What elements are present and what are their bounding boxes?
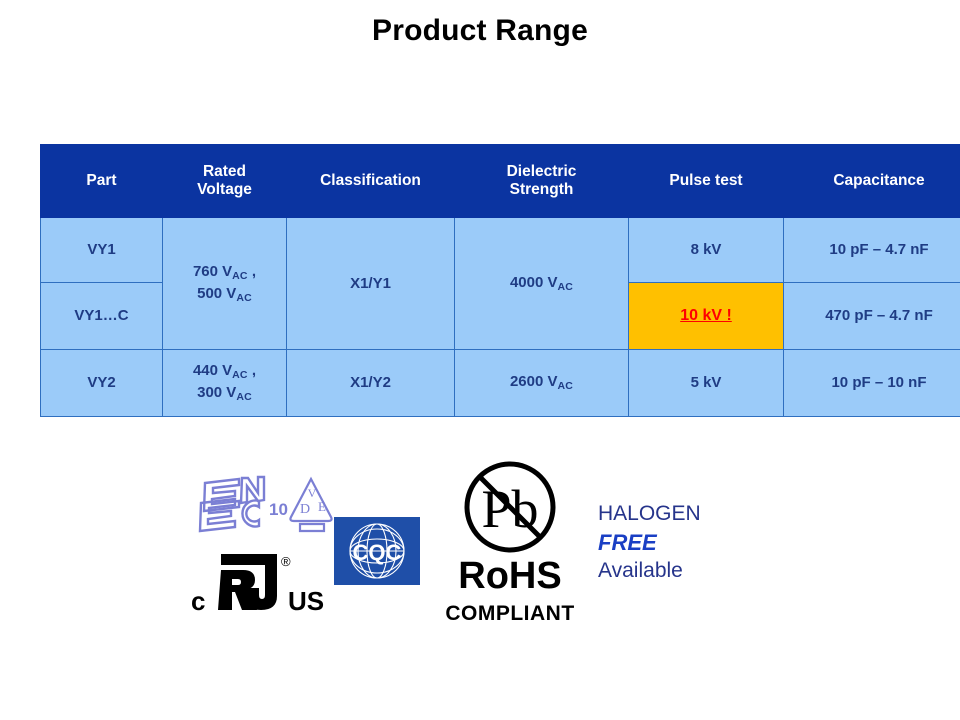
table-body: VY1 760 VAC , 500 VAC X1/Y1 4000 VAC 8 k… [41, 218, 960, 417]
vde-letter-e: E [318, 499, 326, 514]
product-range-table: Part Rated Voltage Classification Dielec… [40, 144, 960, 417]
column-header-pulse-test: Pulse test [629, 145, 784, 218]
subscript-ac: AC [232, 369, 248, 381]
highlight-value: 10 kV ! [680, 307, 732, 324]
cell-pulse-test-vy1: 8 kV [629, 218, 784, 283]
halogen-line-3: Available [598, 557, 798, 585]
cell-classification-vy1: X1/Y1 [287, 218, 455, 350]
subscript-ac: AC [557, 380, 573, 392]
enec-number: 10 [269, 500, 288, 519]
column-header-rated-voltage: Rated Voltage [163, 145, 287, 218]
cqc-logo: CQC [334, 517, 420, 585]
cell-part-vy1c: VY1…C [41, 283, 163, 350]
subscript-ac: AC [557, 281, 573, 293]
enec-vde-logo-group: 10 V D E [193, 473, 338, 539]
cell-capacitance-vy1c: 470 pF – 4.7 nF [784, 283, 960, 350]
cell-pulse-test-vy1c-highlighted: 10 kV ! [629, 283, 784, 350]
ul-recognized-logo: c US ® [185, 548, 335, 620]
cell-dielectric-vy2: 2600 VAC [455, 350, 629, 417]
ul-right-letters: US [288, 586, 324, 616]
column-header-part: Part [41, 145, 163, 218]
cell-dielectric-vy1: 4000 VAC [455, 218, 629, 350]
rohs-subtitle: COMPLIANT [445, 602, 574, 625]
cell-rated-voltage-vy1: 760 VAC , 500 VAC [163, 218, 287, 350]
cell-capacitance-vy1: 10 pF – 4.7 nF [784, 218, 960, 283]
cell-capacitance-vy2: 10 pF – 10 nF [784, 350, 960, 417]
vde-letter-d: D [300, 502, 310, 517]
column-header-classification: Classification [287, 145, 455, 218]
subscript-ac: AC [236, 291, 252, 303]
subscript-ac: AC [232, 270, 248, 282]
subscript-ac: AC [236, 391, 252, 403]
table-header: Part Rated Voltage Classification Dielec… [41, 145, 960, 218]
vde-letter-v: V [308, 486, 317, 500]
certification-logo-strip: 10 V D E c US ® [0, 455, 960, 655]
table-row: VY2 440 VAC , 300 VAC X1/Y2 2600 VAC 5 k… [41, 350, 960, 417]
rohs-title: RoHS [458, 555, 561, 597]
ul-left-letter: c [191, 586, 205, 616]
halogen-line-2: FREE [598, 528, 798, 557]
cell-classification-vy2: X1/Y2 [287, 350, 455, 417]
table-header-row: Part Rated Voltage Classification Dielec… [41, 145, 960, 218]
cqc-text: CQC [353, 540, 402, 565]
table-row: VY1 760 VAC , 500 VAC X1/Y1 4000 VAC 8 k… [41, 218, 960, 283]
column-header-dielectric-strength: Dielectric Strength [455, 145, 629, 218]
cell-rated-voltage-vy2: 440 VAC , 300 VAC [163, 350, 287, 417]
page-title: Product Range [0, 14, 960, 48]
halogen-free-note: HALOGEN FREE Available [598, 500, 798, 584]
registered-icon: ® [281, 554, 291, 569]
cell-pulse-test-vy2: 5 kV [629, 350, 784, 417]
cell-part-vy2: VY2 [41, 350, 163, 417]
halogen-line-1: HALOGEN [598, 500, 798, 528]
column-header-capacitance: Capacitance [784, 145, 960, 218]
rohs-logo: Pb RoHS COMPLIANT [445, 455, 575, 630]
enec-logo: 10 V D E [193, 473, 338, 539]
cell-part-vy1: VY1 [41, 218, 163, 283]
